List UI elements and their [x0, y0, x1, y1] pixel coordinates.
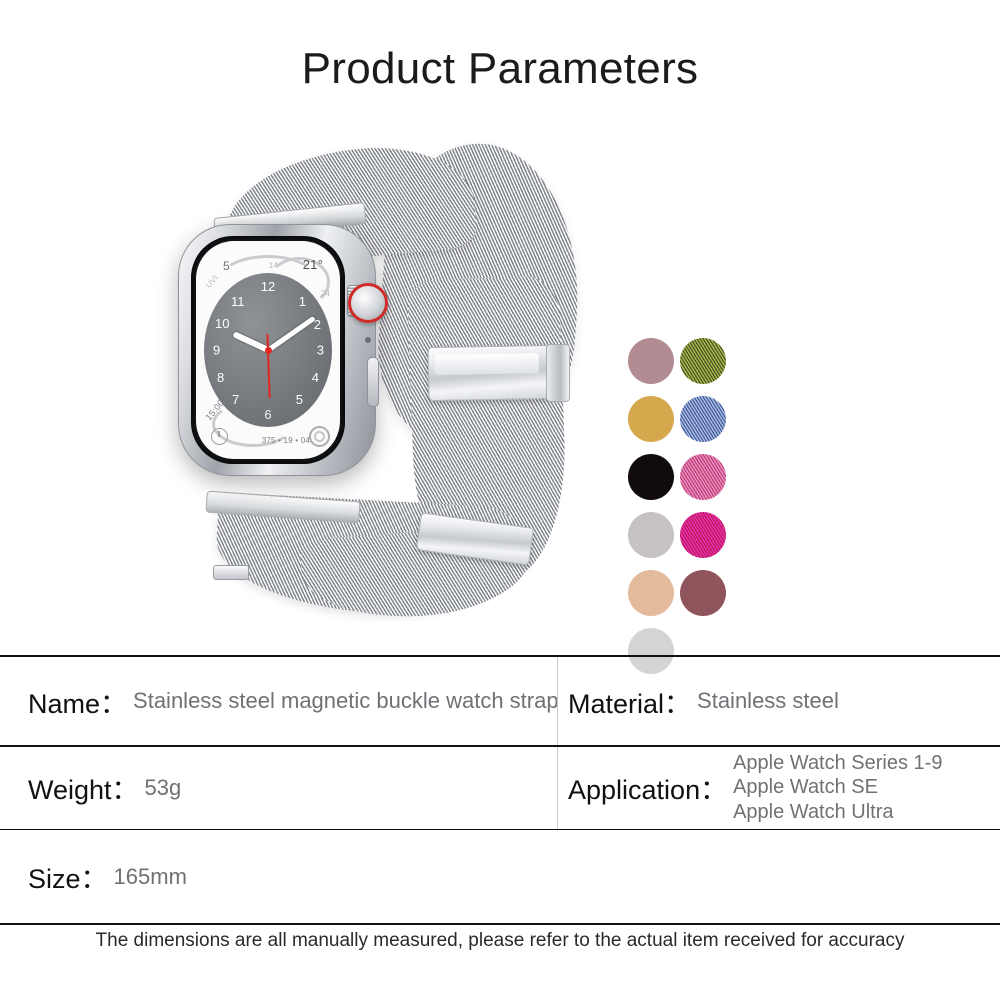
spec-label-size: Size： [28, 857, 108, 896]
dial-numeral-11: 11 [231, 294, 245, 309]
color-swatch-magenta-mesh[interactable] [680, 512, 726, 558]
dial-numeral-7: 7 [232, 392, 239, 407]
watch-bezel: UVI 5 21° 14 24 15:00 375 • 19 • 04 12 1… [191, 236, 345, 464]
dial-numeral-9: 9 [213, 343, 220, 358]
dial-numeral-5: 5 [296, 392, 303, 407]
spec-value-application-list: Apple Watch Series 1-9 Apple Watch SE Ap… [733, 751, 942, 824]
color-swatch-tan-pink-gradient-mesh[interactable] [680, 454, 726, 500]
table-rule-bottom [0, 923, 1000, 925]
temperature-value: 21° [303, 257, 323, 272]
microphone-hole [365, 337, 371, 343]
watch-dial: 12 1 2 3 4 5 6 7 8 9 10 11 [204, 273, 332, 427]
side-button [367, 357, 379, 407]
uv-index-value: 5 [223, 259, 230, 273]
watch-lug-bottom [213, 565, 249, 580]
spec-cell-application: Application： Apple Watch Series 1-9 Appl… [557, 747, 1000, 829]
page-title: Product Parameters [0, 44, 1000, 94]
spec-cell-size: Size： 165mm [0, 830, 1000, 923]
color-swatch-row [628, 454, 748, 500]
table-row: Name： Stainless steel magnetic buckle wa… [0, 657, 1000, 745]
product-photo: UVI 5 21° 14 24 15:00 375 • 19 • 04 12 1… [150, 128, 610, 638]
digital-crown [348, 283, 388, 323]
color-swatch-light-gray[interactable] [628, 512, 674, 558]
dial-numeral-8: 8 [217, 370, 224, 385]
hero-section: UVI 5 21° 14 24 15:00 375 • 19 • 04 12 1… [0, 118, 1000, 648]
color-swatch-maroon[interactable] [680, 570, 726, 616]
temperature-range-start: 14 [269, 261, 278, 270]
dial-numeral-10: 10 [215, 316, 229, 331]
product-parameters-page: Product Parameters [0, 0, 1000, 1000]
color-swatch-grid[interactable] [628, 338, 748, 686]
color-swatch-row [628, 338, 748, 384]
dial-numeral-6: 6 [264, 407, 271, 422]
second-hand [266, 334, 270, 398]
color-swatch-pink-blue-gradient-mesh[interactable] [680, 396, 726, 442]
spec-label-material: Material： [568, 682, 691, 721]
table-row: Size： 165mm [0, 830, 1000, 923]
watch-case: UVI 5 21° 14 24 15:00 375 • 19 • 04 12 1… [178, 224, 376, 476]
minute-hand [267, 316, 316, 352]
spec-label-weight: Weight： [28, 768, 139, 807]
color-swatch-beige-tan[interactable] [628, 570, 674, 616]
dial-numeral-12: 12 [261, 279, 275, 294]
dial-numeral-1: 1 [299, 294, 306, 309]
spec-label-application: Application： [568, 768, 727, 807]
dial-numeral-4: 4 [312, 370, 319, 385]
dial-center-pin [265, 347, 272, 354]
table-row: Weight： 53g Application： Apple Watch Ser… [0, 747, 1000, 829]
spec-cell-name: Name： Stainless steel magnetic buckle wa… [0, 657, 557, 745]
application-item: Apple Watch SE [733, 775, 942, 799]
magnetic-buckle-clasp [428, 345, 557, 401]
dial-numeral-3: 3 [317, 343, 324, 358]
spec-label-name: Name： [28, 682, 127, 721]
color-swatch-mauve-rose[interactable] [628, 338, 674, 384]
color-swatch-black[interactable] [628, 454, 674, 500]
activity-rings-icon [309, 426, 330, 447]
spec-value-weight: 53g [145, 775, 182, 801]
spec-cell-material: Material： Stainless steel [557, 657, 1000, 745]
watch-screen: UVI 5 21° 14 24 15:00 375 • 19 • 04 12 1… [196, 241, 340, 459]
color-swatch-row [628, 396, 748, 442]
application-item: Apple Watch Ultra [733, 800, 942, 824]
hour-hand [232, 331, 269, 352]
color-swatch-olive-multicolor-mesh[interactable] [680, 338, 726, 384]
timer-icon [211, 428, 228, 445]
spec-value-name: Stainless steel magnetic buckle watch st… [133, 688, 559, 714]
spec-cell-weight: Weight： 53g [0, 747, 557, 829]
spec-table: Name： Stainless steel magnetic buckle wa… [0, 655, 1000, 925]
color-swatch-row [628, 512, 748, 558]
steps-complication: 375 • 19 • 04 [262, 436, 310, 445]
color-swatch-row [628, 570, 748, 616]
clasp-edge [546, 344, 570, 402]
spec-value-size: 165mm [114, 864, 187, 890]
application-item: Apple Watch Series 1-9 [733, 751, 942, 775]
color-swatch-gold[interactable] [628, 396, 674, 442]
measurement-disclaimer: The dimensions are all manually measured… [0, 930, 1000, 952]
uv-index-label: UVI [204, 273, 220, 289]
temperature-range-end: 24 [321, 289, 330, 298]
spec-value-material: Stainless steel [697, 688, 839, 714]
